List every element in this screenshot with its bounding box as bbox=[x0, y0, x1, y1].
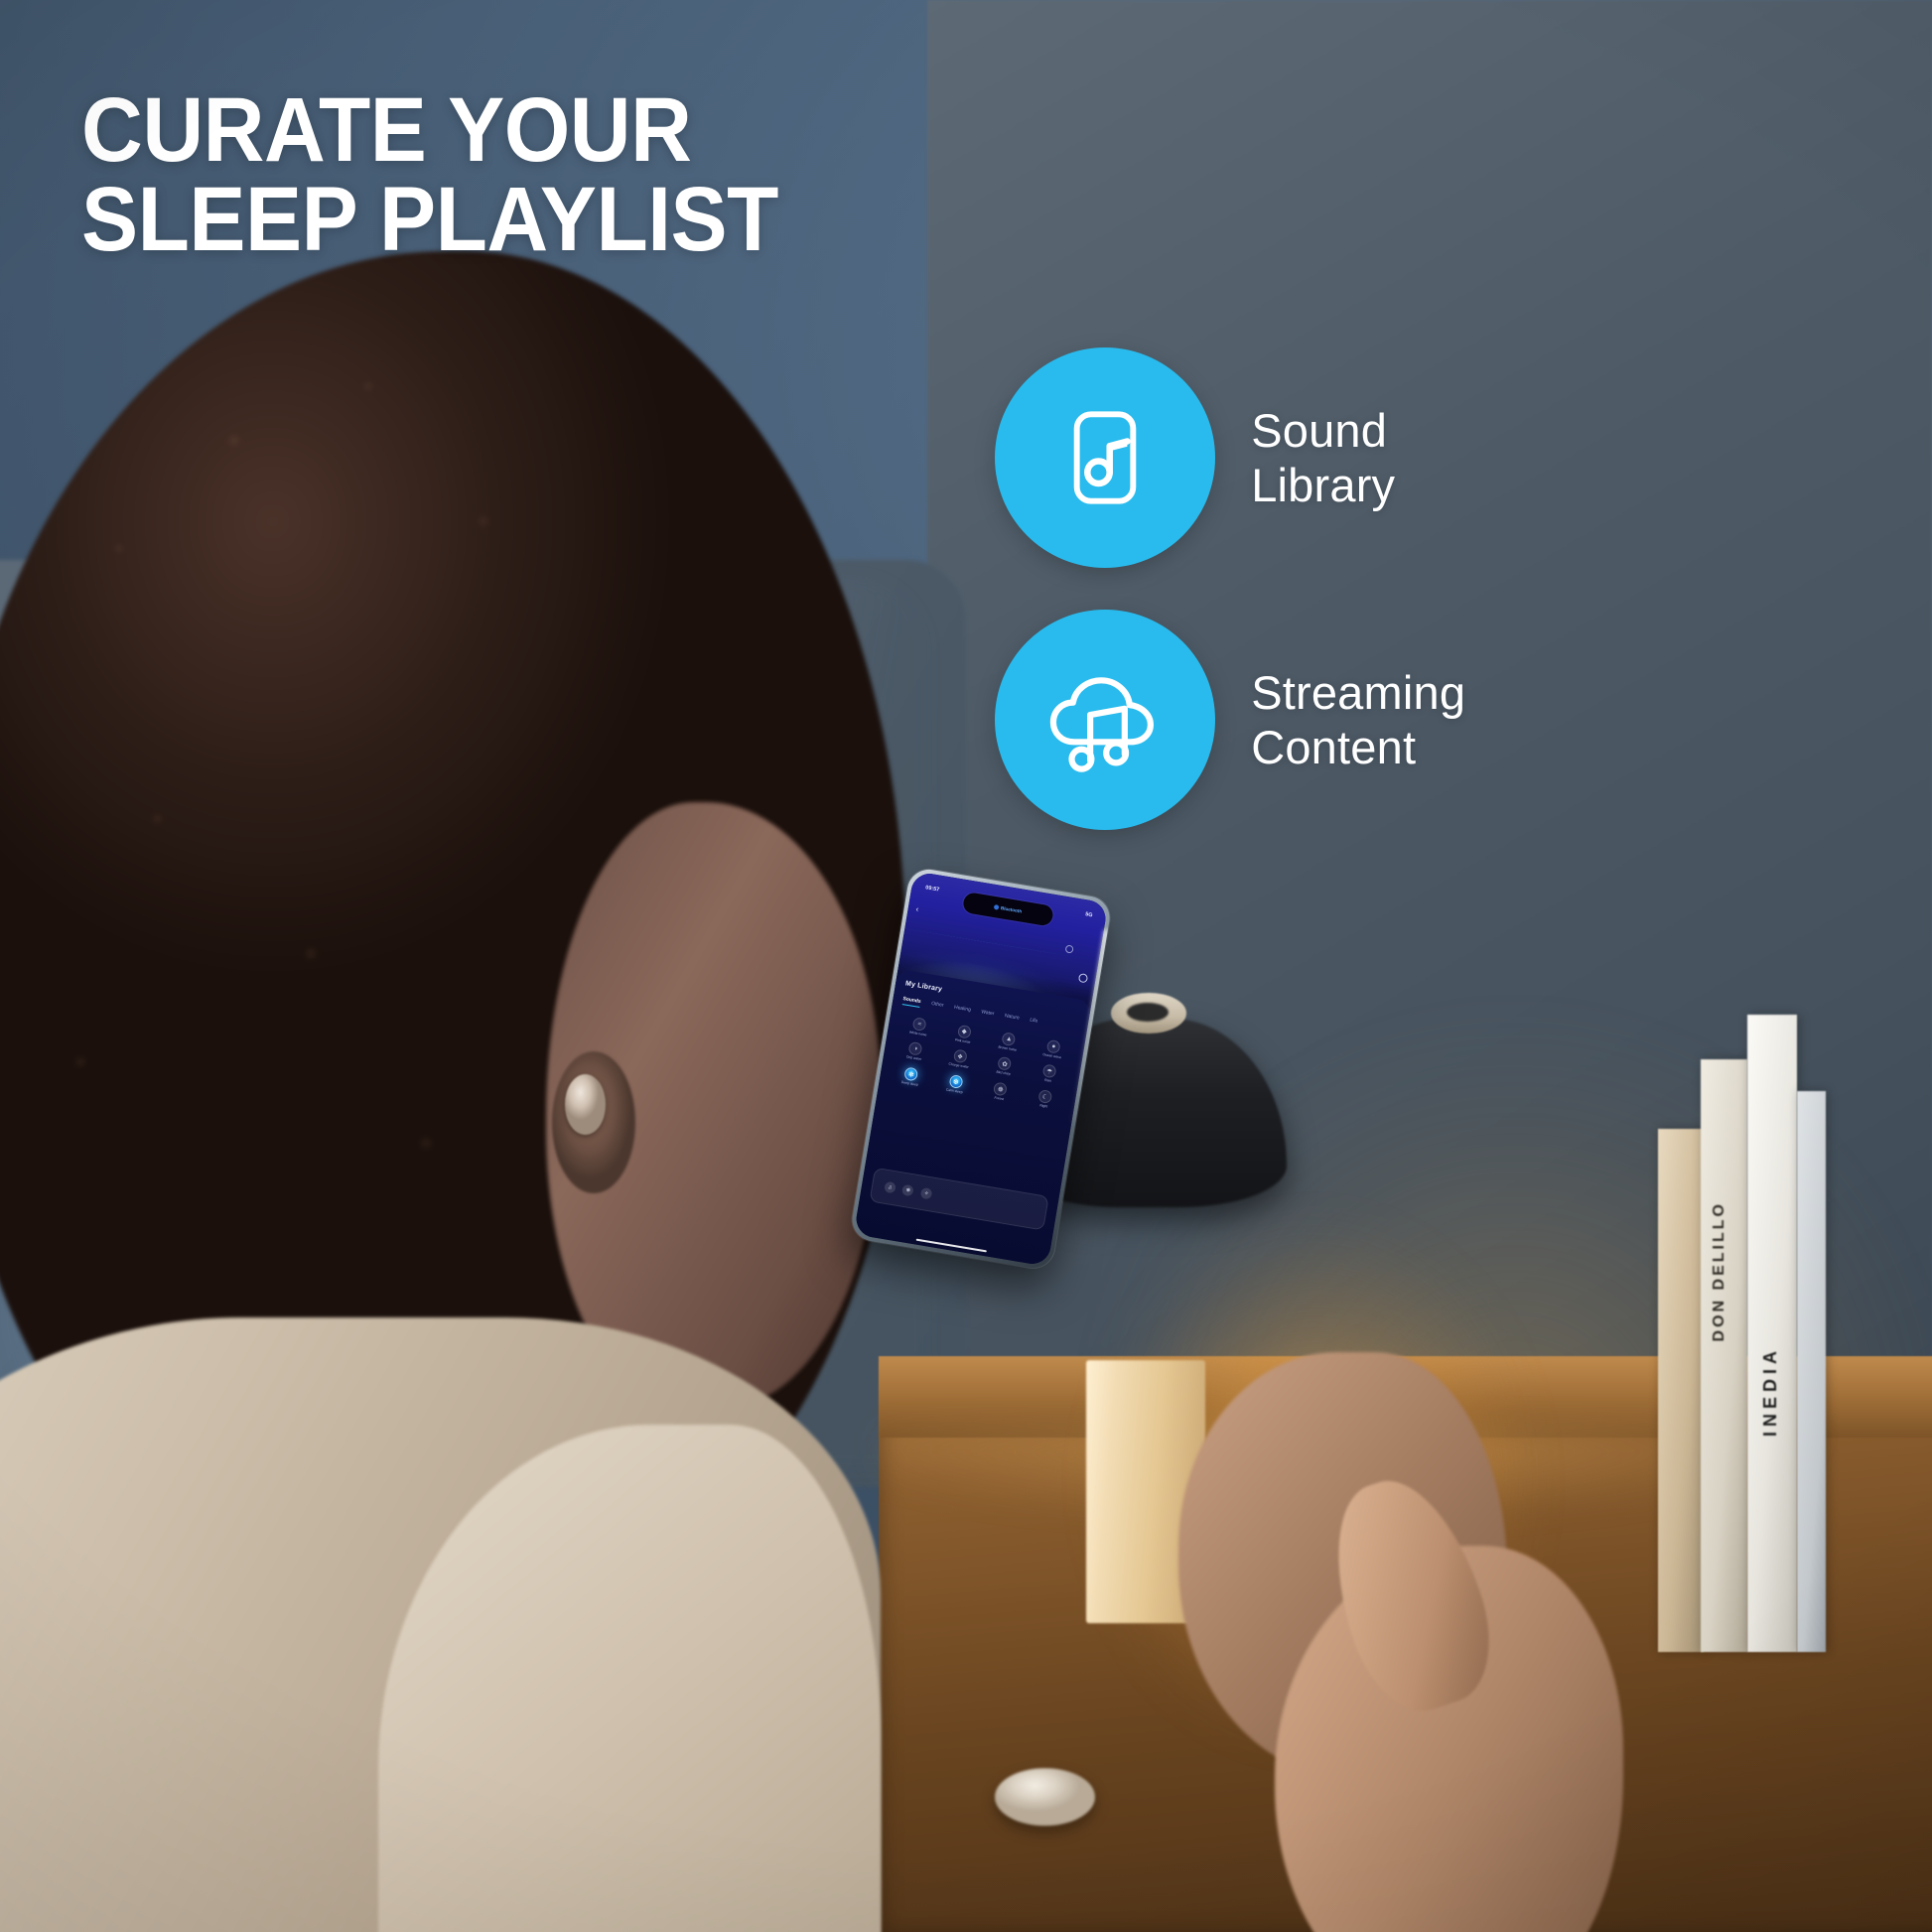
sound-tile-label: Deep sleep bbox=[901, 1081, 919, 1088]
cloud-music-note-icon-badge bbox=[995, 610, 1215, 830]
sound-tile-icon[interactable]: ❆ bbox=[949, 1074, 964, 1089]
sound-tile-icon[interactable]: ❁ bbox=[994, 1082, 1009, 1097]
feature-list: Sound Library Streaming Content bbox=[995, 347, 1922, 830]
book-spine-label: DON DELILLO bbox=[1711, 1201, 1728, 1341]
tab-healing[interactable]: Healing bbox=[954, 1005, 972, 1014]
sound-tile-label: Bird chirp bbox=[996, 1071, 1011, 1077]
bluetooth-label: Bluetooth bbox=[1001, 905, 1023, 913]
sound-tile-label: Forest bbox=[995, 1097, 1005, 1102]
sound-tile-icon[interactable]: ◑ bbox=[908, 1042, 923, 1057]
headline: CURATE YOUR SLEEP PLAYLIST bbox=[81, 85, 778, 264]
sound-tile[interactable]: ☂Rain bbox=[1028, 1062, 1071, 1087]
tab-water[interactable]: Water bbox=[981, 1010, 995, 1018]
phone-music-note-icon-badge bbox=[995, 347, 1215, 568]
feature-label-line-2: Library bbox=[1251, 458, 1395, 512]
book-item bbox=[1658, 1129, 1705, 1652]
sound-tile-icon[interactable]: ☾ bbox=[1038, 1090, 1053, 1105]
tab-other[interactable]: Other bbox=[931, 1001, 944, 1009]
library-sheet: My Library Sounds Other Healing Water Na… bbox=[854, 969, 1092, 1267]
sound-tile[interactable]: ☾Night bbox=[1024, 1087, 1067, 1112]
sound-tile[interactable]: ≈White noise bbox=[897, 1015, 941, 1039]
sound-grid[interactable]: ≈White noise◆Pink noise▲Brown noise●Ocea… bbox=[890, 1015, 1076, 1113]
feature-sound-library: Sound Library bbox=[995, 347, 1922, 568]
headline-line-1: CURATE YOUR bbox=[81, 85, 778, 175]
sound-tile-label: Charge water bbox=[948, 1063, 969, 1070]
sound-tile-icon[interactable]: ❇ bbox=[904, 1067, 919, 1082]
sound-tile-label: Drip water bbox=[906, 1056, 922, 1062]
headline-line-2: SLEEP PLAYLIST bbox=[81, 175, 778, 264]
sound-tile-label: Calm sleep bbox=[946, 1089, 963, 1095]
status-network: 5G bbox=[1085, 911, 1093, 918]
snowflake-icon[interactable]: ❄ bbox=[902, 1184, 915, 1197]
book-item bbox=[1797, 1091, 1826, 1652]
volume-icon[interactable]: ♫ bbox=[884, 1181, 897, 1194]
sound-tile-label: Ocean wave bbox=[1042, 1053, 1061, 1060]
feature-streaming-content: Streaming Content bbox=[995, 610, 1922, 830]
sound-tile-label: White noise bbox=[909, 1032, 927, 1038]
sound-tile-label: Night bbox=[1039, 1105, 1047, 1110]
phone-music-note-icon bbox=[1046, 399, 1164, 516]
sound-tile[interactable]: ▲Brown noise bbox=[987, 1030, 1031, 1054]
sound-tile[interactable]: ◑Drip water bbox=[894, 1039, 937, 1064]
sound-tile-icon[interactable]: ● bbox=[1046, 1039, 1061, 1054]
mini-player[interactable]: ♫ ❄ ✧ bbox=[870, 1168, 1050, 1231]
sound-tile[interactable]: ❇Deep sleep bbox=[890, 1065, 933, 1090]
tab-sounds[interactable]: Sounds bbox=[902, 997, 921, 1006]
feature-label-line-1: Streaming bbox=[1251, 665, 1465, 720]
status-time: 09:57 bbox=[925, 886, 940, 894]
feature-label-streaming-content: Streaming Content bbox=[1251, 665, 1465, 775]
sound-tile-icon[interactable]: ❖ bbox=[953, 1049, 968, 1064]
sound-tile-icon[interactable]: ☂ bbox=[1042, 1064, 1057, 1079]
music-note-icon bbox=[994, 904, 1000, 910]
sound-tile-icon[interactable]: ▲ bbox=[1002, 1032, 1017, 1046]
sound-tile-label: Pink noise bbox=[955, 1038, 971, 1044]
promo-image-root: DON DELILLO INEDIA bbox=[0, 0, 1932, 1932]
book-spine-label: INEDIA bbox=[1760, 1346, 1781, 1437]
sound-tile[interactable]: ❖Charge water bbox=[938, 1047, 982, 1072]
book-stack: DON DELILLO INEDIA bbox=[1652, 1015, 1932, 1652]
sound-tile-icon[interactable]: ✿ bbox=[998, 1057, 1013, 1072]
cloud-music-note-icon bbox=[1043, 658, 1167, 781]
feature-label-line-1: Sound bbox=[1251, 403, 1395, 458]
feature-label-sound-library: Sound Library bbox=[1251, 403, 1395, 513]
sound-tile-icon[interactable]: ≈ bbox=[912, 1017, 927, 1032]
sound-tile-label: Rain bbox=[1044, 1079, 1052, 1084]
sleep-earbud bbox=[565, 1074, 606, 1135]
sound-tile[interactable]: ◆Pink noise bbox=[942, 1022, 986, 1046]
sparkle-icon[interactable]: ✧ bbox=[920, 1187, 933, 1200]
sound-tile-label: Brown noise bbox=[999, 1046, 1018, 1053]
sound-tile[interactable]: ❁Forest bbox=[979, 1080, 1023, 1105]
book-item: INEDIA bbox=[1747, 1015, 1797, 1652]
sound-tile[interactable]: ❆Calm sleep bbox=[934, 1072, 978, 1097]
sound-tile-icon[interactable]: ◆ bbox=[957, 1025, 972, 1039]
sound-tile[interactable]: ●Ocean wave bbox=[1032, 1036, 1075, 1061]
book-item: DON DELILLO bbox=[1701, 1059, 1747, 1652]
tab-nature[interactable]: Nature bbox=[1005, 1014, 1021, 1022]
sound-tile[interactable]: ✿Bird chirp bbox=[983, 1054, 1027, 1079]
feature-label-line-2: Content bbox=[1251, 720, 1465, 774]
tab-life[interactable]: Life bbox=[1030, 1018, 1038, 1025]
